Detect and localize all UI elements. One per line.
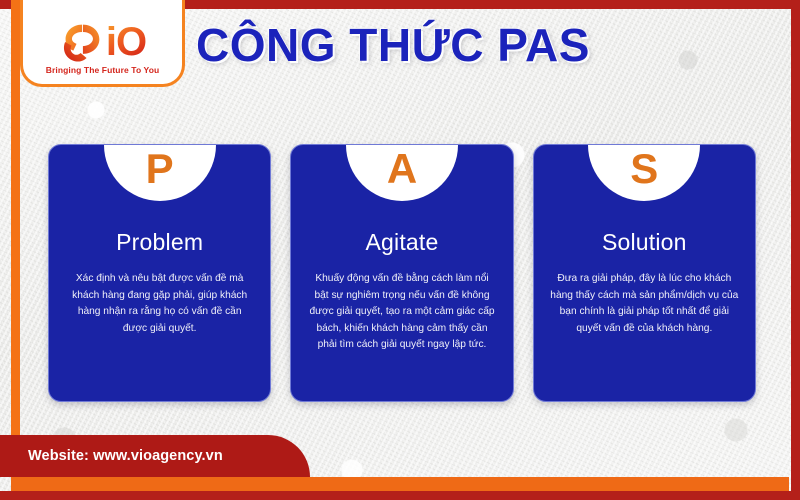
card-letter: P bbox=[146, 145, 174, 192]
card-body: Đưa ra giải pháp, đây là lúc cho khách h… bbox=[550, 271, 739, 337]
card-title: Agitate bbox=[291, 229, 512, 256]
card-letter: A bbox=[387, 145, 417, 192]
pas-card-solution: S Solution Đưa ra giải pháp, đây là lúc … bbox=[533, 144, 756, 402]
card-body: Xác định và nêu bật được vấn đề mà khách… bbox=[65, 271, 254, 337]
pas-card-problem: P Problem Xác định và nêu bật được vấn đ… bbox=[48, 144, 271, 402]
card-letter: S bbox=[630, 145, 658, 192]
logo-tagline: Bringing The Future To You bbox=[46, 65, 160, 75]
logo-lockup: iO bbox=[59, 21, 146, 63]
pas-card-agitate: A Agitate Khuấy động vấn đề bằng cách là… bbox=[290, 144, 513, 402]
card-title: Solution bbox=[534, 229, 755, 256]
swirl-arrows-icon bbox=[59, 21, 105, 63]
letter-badge: P bbox=[104, 145, 216, 201]
card-title: Problem bbox=[49, 229, 270, 256]
card-body: Khuấy động vấn đề bằng cách làm nổi bật … bbox=[307, 271, 496, 354]
brand-logo-card: iO Bringing The Future To You bbox=[20, 0, 185, 87]
pas-card-list: P Problem Xác định và nêu bật được vấn đ… bbox=[48, 144, 756, 402]
website-banner: Website: www.vioagency.vn bbox=[0, 435, 310, 477]
letter-badge: A bbox=[346, 145, 458, 201]
logo-wordmark: iO bbox=[106, 24, 146, 60]
frame-border-bottom-orange bbox=[11, 477, 789, 491]
infographic-canvas: iO Bringing The Future To You CÔNG THỨC … bbox=[0, 0, 800, 500]
website-text: Website: www.vioagency.vn bbox=[28, 448, 223, 464]
letter-badge: S bbox=[588, 145, 700, 201]
frame-border-left-orange bbox=[11, 0, 20, 452]
frame-border-right bbox=[791, 0, 800, 500]
frame-border-bottom bbox=[0, 491, 800, 500]
page-title: CÔNG THỨC PAS bbox=[196, 22, 626, 68]
